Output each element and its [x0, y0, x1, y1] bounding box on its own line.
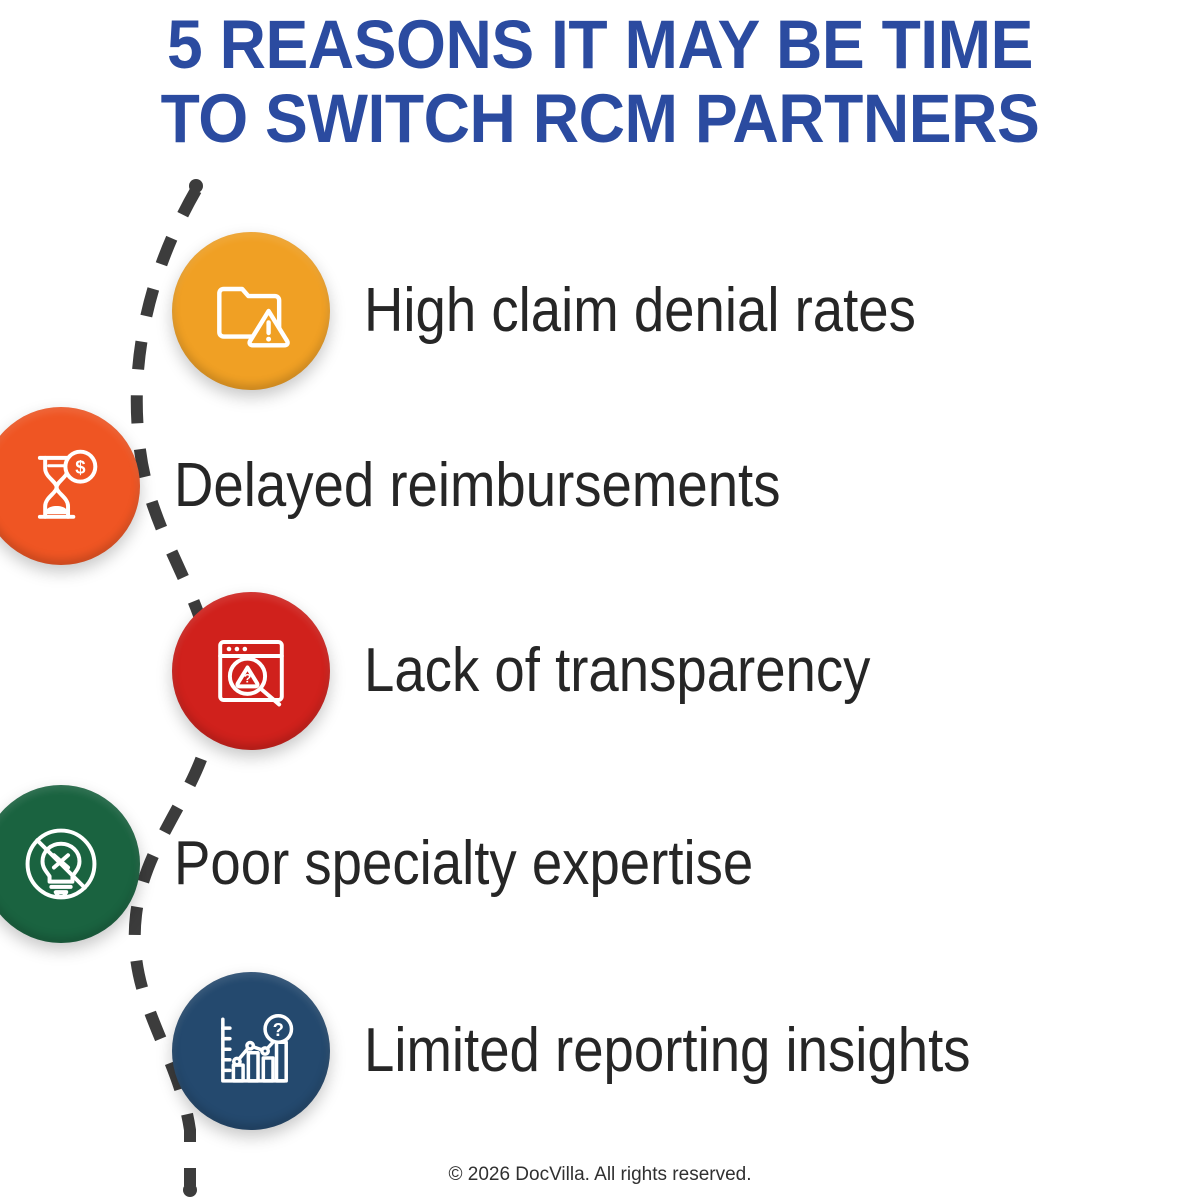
reason-row-2[interactable]: $ Delayed reimbursements	[0, 407, 863, 565]
no-lightbulb-icon	[17, 820, 105, 908]
svg-text:?: ?	[244, 671, 252, 685]
dollar-coin: $	[65, 452, 95, 482]
warning-triangle	[250, 311, 288, 345]
reason-label-4: Poor specialty expertise	[174, 831, 753, 897]
question-badge: ?	[265, 1016, 291, 1042]
reason-row-5[interactable]: ? Limited reporting insights	[172, 972, 1053, 1130]
bar-chart-question-icon: ?	[207, 1007, 295, 1095]
reason-badge-1[interactable]	[172, 232, 330, 390]
reason-label-2: Delayed reimbursements	[174, 453, 780, 519]
reason-row-4[interactable]: Poor specialty expertise	[0, 785, 832, 943]
browser-search-warning-icon: ?	[207, 627, 295, 715]
hourglass-dollar-icon: $	[17, 442, 105, 530]
infographic-canvas: 5 REASONS IT MAY BE TIME TO SWITCH RCM P…	[0, 0, 1200, 1200]
connector-start-dot	[189, 179, 203, 193]
reason-badge-4[interactable]	[0, 785, 140, 943]
title-line-1: 5 REASONS IT MAY BE TIME	[42, 8, 1158, 82]
reason-label-5: Limited reporting insights	[364, 1018, 971, 1084]
folder-warning-icon	[207, 267, 295, 355]
reason-badge-3[interactable]: ?	[172, 592, 330, 750]
title-line-2: TO SWITCH RCM PARTNERS	[42, 82, 1158, 156]
svg-text:$: $	[75, 457, 86, 478]
reason-label-3: Lack of transparency	[364, 638, 870, 704]
reason-label-1: High claim denial rates	[364, 278, 916, 344]
reason-badge-5[interactable]: ?	[172, 972, 330, 1130]
reason-badge-2[interactable]: $	[0, 407, 140, 565]
reason-row-3[interactable]: ? Lack of transparency	[172, 592, 940, 750]
page-title: 5 REASONS IT MAY BE TIME TO SWITCH RCM P…	[0, 8, 1200, 156]
svg-text:?: ?	[273, 1019, 284, 1040]
footer-copyright: © 2026 DocVilla. All rights reserved.	[0, 1164, 1200, 1186]
reason-row-1[interactable]: High claim denial rates	[172, 232, 991, 390]
